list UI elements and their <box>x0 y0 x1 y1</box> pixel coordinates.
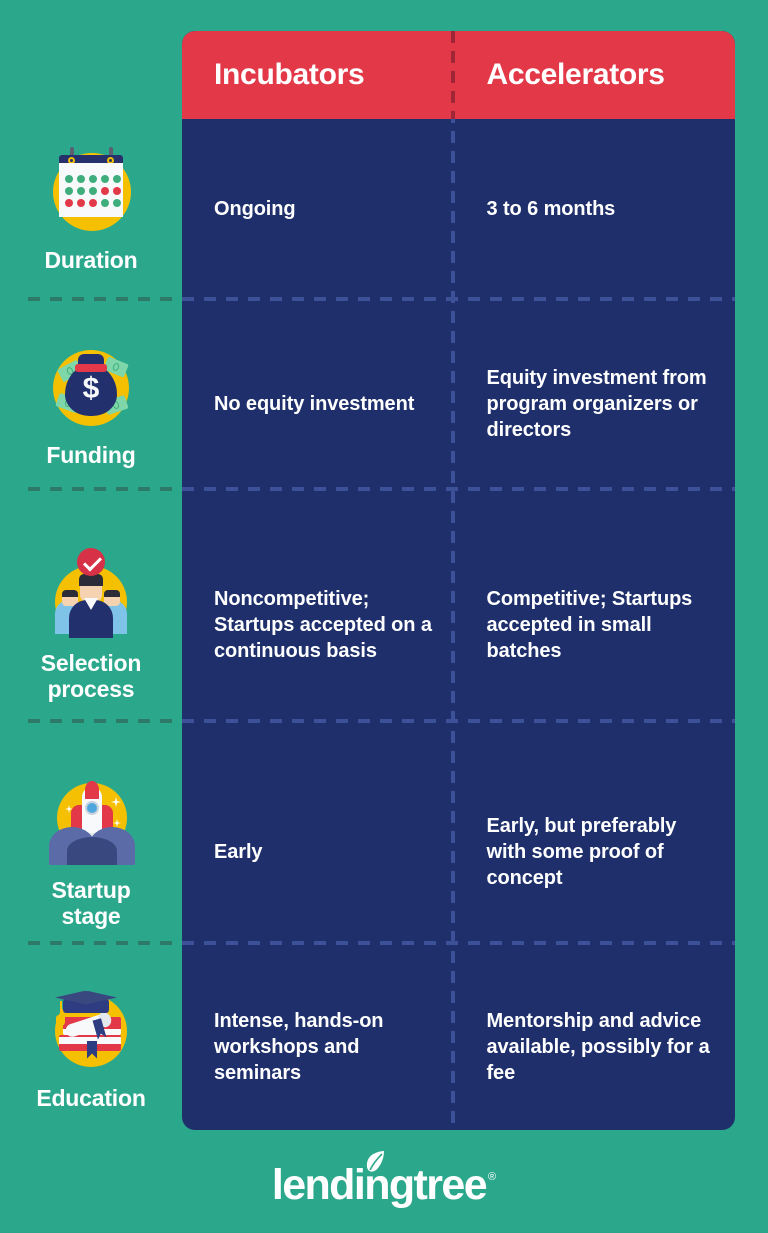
cell-accelerators-startup-stage: Early, but preferably with some proof of… <box>459 741 736 963</box>
row-divider-2 <box>0 487 768 491</box>
header-label-accelerators: Accelerators <box>487 58 665 92</box>
header-column-accelerators: Accelerators <box>459 31 736 119</box>
cell-incubators-selection-process: Noncompetitive; Startups accepted on a c… <box>182 509 459 741</box>
cell-text: Equity investment from program organizer… <box>487 365 718 443</box>
cell-incubators-funding: No equity investment <box>182 309 459 499</box>
table-row-education: Intense, hands-on workshops and seminars… <box>182 963 735 1130</box>
rail-row-duration: Duration <box>0 119 182 299</box>
row-divider-3 <box>0 719 768 723</box>
calendar-icon <box>43 145 139 241</box>
category-rail: Duration $ Funding <box>0 31 182 1130</box>
cell-text: Competitive; Startups accepted in small … <box>487 586 718 664</box>
cell-text: Mentorship and advice available, possibl… <box>487 1008 718 1086</box>
registered-mark: ® <box>488 1172 496 1183</box>
cell-text: Intense, hands-on workshops and seminars <box>214 1008 441 1086</box>
row-divider-4 <box>0 941 768 945</box>
rail-row-education: Education <box>0 963 182 1130</box>
cell-text: Early, but preferably with some proof of… <box>487 813 718 891</box>
table-row-selection-process: Noncompetitive; Startups accepted on a c… <box>182 509 735 741</box>
rail-label-startup-stage: Startup stage <box>51 877 130 929</box>
leaf-icon <box>364 1150 386 1174</box>
rail-row-selection-process: Selection process <box>0 509 182 741</box>
people-check-icon <box>43 548 139 644</box>
table-row-duration: Ongoing 3 to 6 months <box>182 119 735 299</box>
cell-incubators-startup-stage: Early <box>182 741 459 963</box>
cell-text: Ongoing <box>214 196 296 222</box>
lendingtree-logo[interactable]: lendingtree ® <box>272 1164 496 1207</box>
cell-incubators-duration: Ongoing <box>182 119 459 299</box>
cell-incubators-education: Intense, hands-on workshops and seminars <box>182 963 459 1130</box>
footer: lendingtree ® <box>0 1155 768 1215</box>
rail-label-funding: Funding <box>46 442 135 468</box>
rail-label-duration: Duration <box>45 247 138 273</box>
comparison-card: Incubators Accelerators Ongoing 3 to 6 m… <box>182 31 735 1130</box>
cell-text: 3 to 6 months <box>487 196 616 222</box>
rail-row-funding: $ Funding <box>0 309 182 499</box>
cell-accelerators-selection-process: Competitive; Startups accepted in small … <box>459 509 736 741</box>
cell-text: Noncompetitive; Startups accepted on a c… <box>214 586 441 664</box>
rail-row-startup-stage: Startup stage <box>0 741 182 963</box>
cell-accelerators-duration: 3 to 6 months <box>459 119 736 299</box>
graduation-books-icon <box>43 983 139 1079</box>
cell-text: Early <box>214 839 262 865</box>
card-header: Incubators Accelerators <box>182 31 735 119</box>
header-label-incubators: Incubators <box>214 58 364 92</box>
table-row-funding: No equity investment Equity investment f… <box>182 309 735 499</box>
money-bag-icon: $ <box>43 340 139 436</box>
header-column-incubators: Incubators <box>182 31 459 119</box>
rail-label-selection-process: Selection process <box>41 650 141 702</box>
cell-accelerators-funding: Equity investment from program organizer… <box>459 309 736 499</box>
table-row-startup-stage: Early Early, but preferably with some pr… <box>182 741 735 963</box>
vertical-divider-header <box>451 31 455 119</box>
cell-accelerators-education: Mentorship and advice available, possibl… <box>459 963 736 1130</box>
row-divider-1 <box>0 297 768 301</box>
infographic-page: Duration $ Funding <box>0 0 768 1233</box>
rail-label-education: Education <box>36 1085 145 1111</box>
rocket-icon <box>43 775 139 871</box>
vertical-divider <box>451 31 455 1130</box>
cell-text: No equity investment <box>214 391 414 417</box>
